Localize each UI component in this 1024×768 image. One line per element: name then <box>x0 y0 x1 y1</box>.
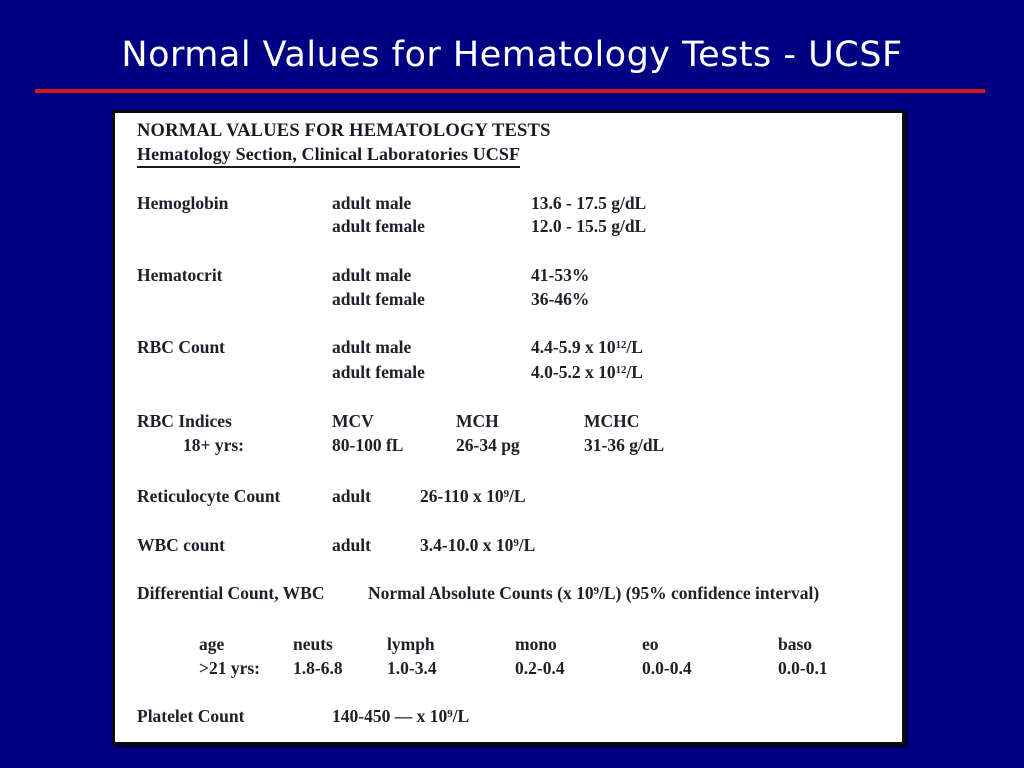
analyte-label-hematocrit: Hematocrit <box>137 265 223 285</box>
differential-value-age: >21 yrs: <box>199 658 260 678</box>
differential-header-neuts: neuts <box>293 634 333 654</box>
differential-value-mono: 0.2-0.4 <box>515 658 565 678</box>
differential-header-age: age <box>199 634 224 654</box>
qualifier-hemoglobin-female: adult female <box>332 216 425 236</box>
differential-value-baso: 0.0-0.1 <box>778 658 828 678</box>
value-rbc-female: 4.0-5.2 x 1012/L <box>531 362 643 382</box>
value-wbc-post: /L <box>519 535 536 555</box>
value-hemoglobin-male: 13.6 - 17.5 g/dL <box>531 193 646 213</box>
differential-value-lymph: 1.0-3.4 <box>387 658 437 678</box>
qualifier-hematocrit-male: adult male <box>332 265 411 285</box>
value-rbc-female-pre: 4.0-5.2 x 10 <box>531 362 616 382</box>
differential-value-neuts: 1.8-6.8 <box>293 658 343 678</box>
qualifier-rbc-female: adult female <box>332 362 425 382</box>
document-image-card: NORMAL VALUES FOR HEMATOLOGY TESTS Hemat… <box>112 110 905 745</box>
value-platelet-pre: 140-450 — x 10 <box>332 706 447 726</box>
column-header-mch: MCH <box>456 411 499 431</box>
differential-header-mono: mono <box>515 634 557 654</box>
value-mchc: 31-36 g/dL <box>584 435 664 455</box>
qualifier-reticulocyte: adult <box>332 486 371 506</box>
qualifier-rbc-male: adult male <box>332 337 411 357</box>
differential-header-eo: eo <box>642 634 659 654</box>
title-divider-rule <box>35 89 985 93</box>
qualifier-wbc: adult <box>332 535 371 555</box>
value-reticulocyte-post: /L <box>509 486 526 506</box>
value-mcv: 80-100 fL <box>332 435 403 455</box>
analyte-label-rbc-indices: RBC Indices <box>137 411 232 431</box>
value-mch: 26-34 pg <box>456 435 520 455</box>
analyte-label-hemoglobin: Hemoglobin <box>137 193 228 213</box>
value-rbc-male-pre: 4.4-5.9 x 10 <box>531 337 616 357</box>
document-subheading: Hematology Section, Clinical Laboratorie… <box>137 144 520 168</box>
differential-value-eo: 0.0-0.4 <box>642 658 692 678</box>
document-heading: NORMAL VALUES FOR HEMATOLOGY TESTS <box>137 121 551 142</box>
qualifier-hematocrit-female: adult female <box>332 289 425 309</box>
value-rbc-male-post: /L <box>626 337 643 357</box>
differential-caption-post: /L) (95% confidence interval) <box>599 583 819 603</box>
value-platelet: 140-450 — x 109/L <box>332 706 469 726</box>
analyte-label-differential-count: Differential Count, WBC <box>137 583 324 603</box>
value-wbc-pre: 3.4-10.0 x 10 <box>420 535 513 555</box>
value-hematocrit-male: 41-53% <box>531 265 589 285</box>
rbc-indices-age-label: 18+ yrs: <box>183 435 244 455</box>
value-wbc: 3.4-10.0 x 109/L <box>420 535 535 555</box>
value-hematocrit-female: 36-46% <box>531 289 589 309</box>
value-reticulocyte-pre: 26-110 x 10 <box>420 486 504 506</box>
value-rbc-male-exponent: 12 <box>616 339 627 351</box>
analyte-label-platelet-count: Platelet Count <box>137 706 244 726</box>
slide-title: Normal Values for Hematology Tests - UCS… <box>0 32 1024 78</box>
value-rbc-male: 4.4-5.9 x 1012/L <box>531 337 643 357</box>
differential-header-baso: baso <box>778 634 812 654</box>
differential-header-lymph: lymph <box>387 634 435 654</box>
differential-caption: Normal Absolute Counts (x 109/L) (95% co… <box>368 583 819 603</box>
analyte-label-rbc-count: RBC Count <box>137 337 225 357</box>
value-platelet-post: /L <box>453 706 470 726</box>
analyte-label-wbc-count: WBC count <box>137 535 225 555</box>
column-header-mcv: MCV <box>332 411 374 431</box>
value-rbc-female-post: /L <box>626 362 643 382</box>
value-rbc-female-exponent: 12 <box>616 364 627 376</box>
value-reticulocyte: 26-110 x 109/L <box>420 486 526 506</box>
differential-caption-pre: Normal Absolute Counts (x 10 <box>368 583 594 603</box>
analyte-label-reticulocyte-count: Reticulocyte Count <box>137 486 280 506</box>
document-content: NORMAL VALUES FOR HEMATOLOGY TESTS Hemat… <box>115 113 902 742</box>
value-hemoglobin-female: 12.0 - 15.5 g/dL <box>531 216 646 236</box>
qualifier-hemoglobin-male: adult male <box>332 193 411 213</box>
column-header-mchc: MCHC <box>584 411 639 431</box>
